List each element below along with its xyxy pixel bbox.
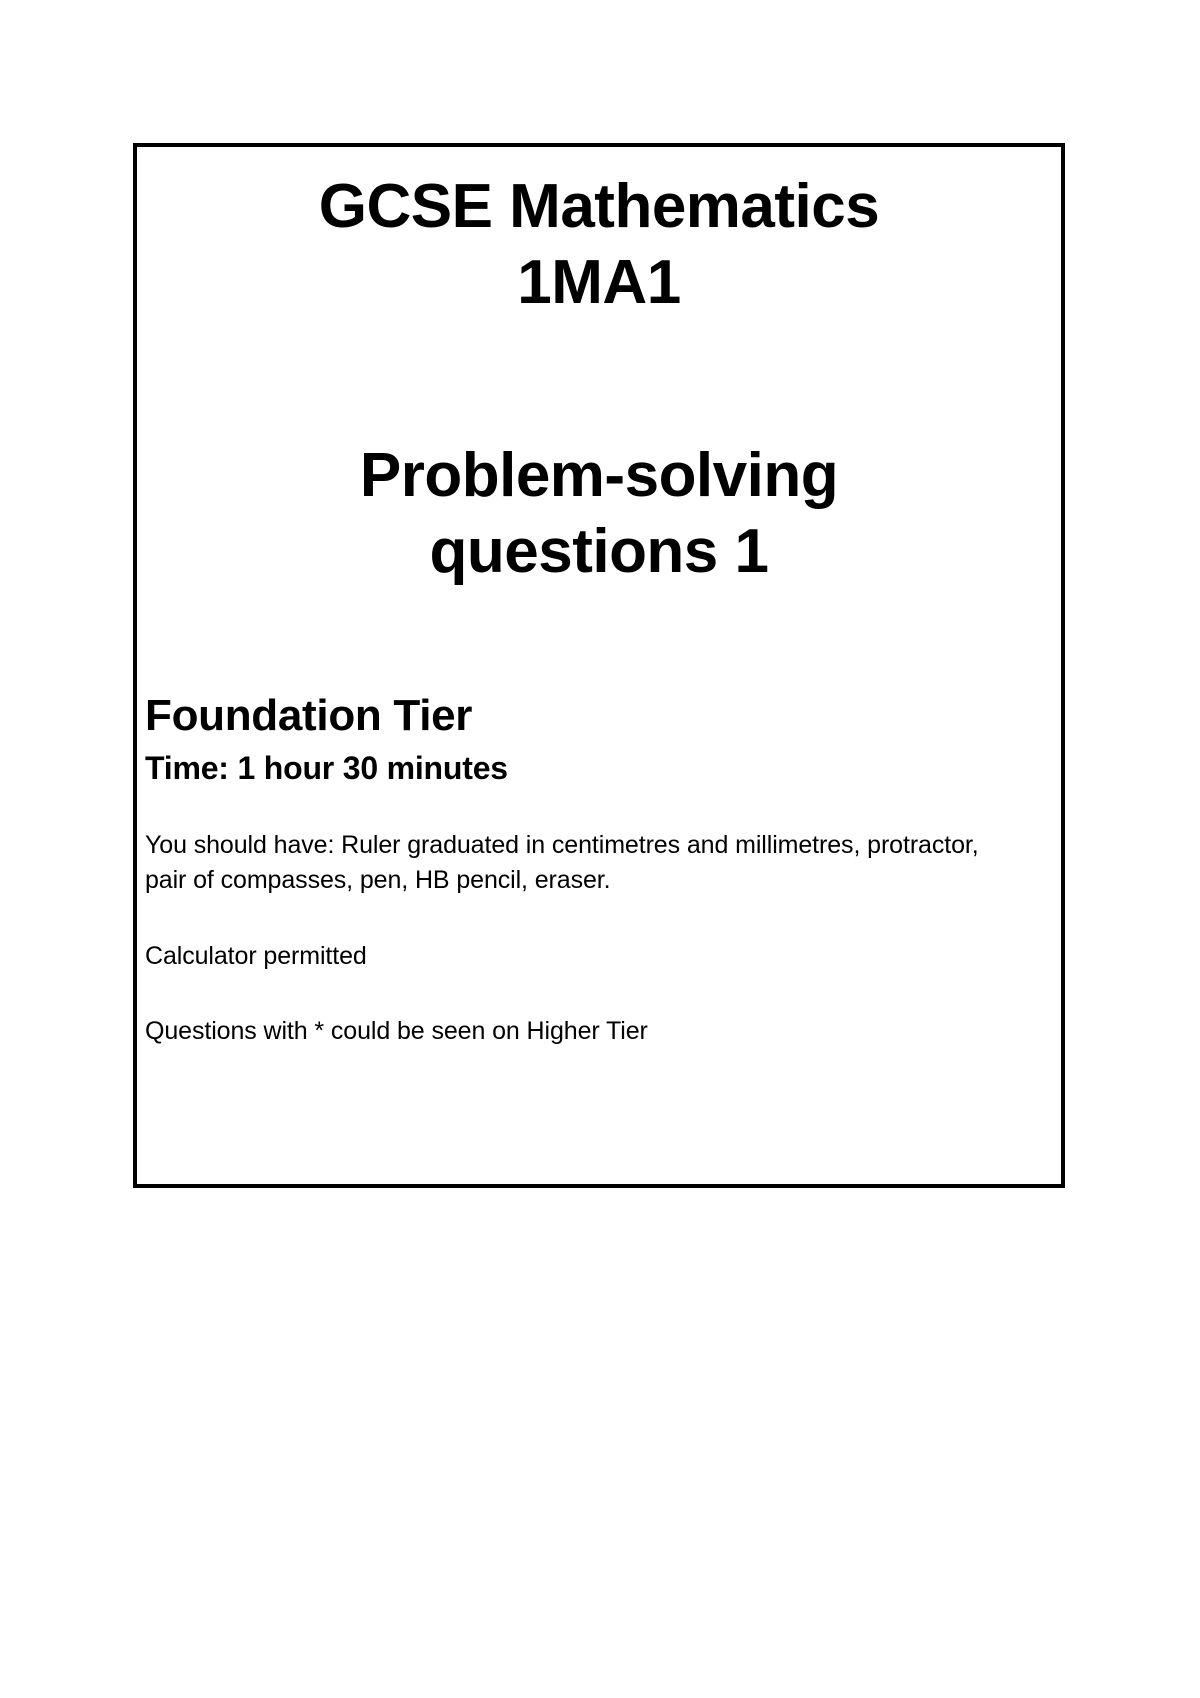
- equipment-paragraph: You should have: Ruler graduated in cent…: [145, 828, 985, 899]
- exam-title-line-1: GCSE Mathematics: [145, 169, 1053, 245]
- paper-subtitle-line-1: Problem-solving: [145, 438, 1053, 514]
- exam-title: GCSE Mathematics 1MA1: [145, 169, 1053, 320]
- paper-subtitle-line-2: questions 1: [145, 514, 1053, 590]
- cover-sheet-box: GCSE Mathematics 1MA1 Problem-solving qu…: [133, 143, 1065, 1188]
- paper-subtitle: Problem-solving questions 1: [145, 438, 1053, 589]
- time-allowed-heading: Time: 1 hour 30 minutes: [145, 749, 1053, 787]
- document-page: { "page": { "background_color": "#ffffff…: [0, 0, 1200, 1698]
- equipment-line-1: You should have: Ruler graduated in cent…: [145, 831, 860, 859]
- exam-title-line-2: 1MA1: [145, 245, 1053, 321]
- tier-heading: Foundation Tier: [145, 690, 1053, 742]
- calculator-paragraph: Calculator permitted: [145, 939, 985, 975]
- cover-sheet-inner: GCSE Mathematics 1MA1 Problem-solving qu…: [137, 169, 1061, 1206]
- starred-questions-paragraph: Questions with * could be seen on Higher…: [145, 1014, 985, 1050]
